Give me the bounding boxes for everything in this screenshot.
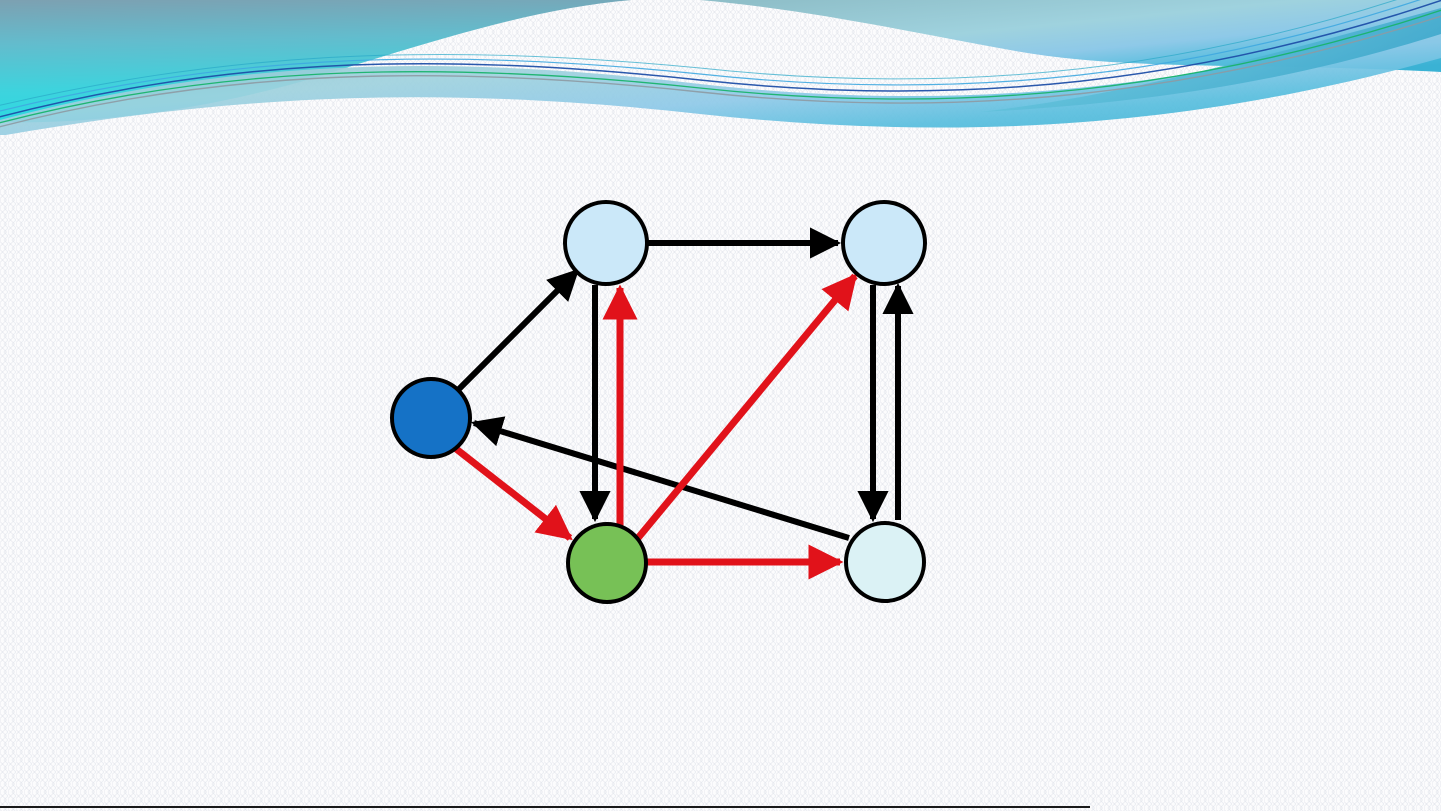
- graph-node-C[interactable]: [843, 202, 925, 284]
- bottom-edge-rule: [0, 806, 1090, 808]
- graph-node-A[interactable]: [392, 379, 470, 457]
- directed-graph-diagram: [0, 0, 1441, 811]
- presentation-slide: [0, 0, 1441, 811]
- edge-A-to-B: [458, 271, 577, 390]
- edge-E-to-A: [474, 423, 849, 538]
- graph-node-D[interactable]: [568, 524, 646, 602]
- edge-D-to-C: [638, 276, 855, 538]
- edge-A-to-D: [455, 448, 570, 538]
- graph-node-B[interactable]: [565, 202, 647, 284]
- node-group: [392, 202, 925, 602]
- graph-node-E[interactable]: [846, 523, 924, 601]
